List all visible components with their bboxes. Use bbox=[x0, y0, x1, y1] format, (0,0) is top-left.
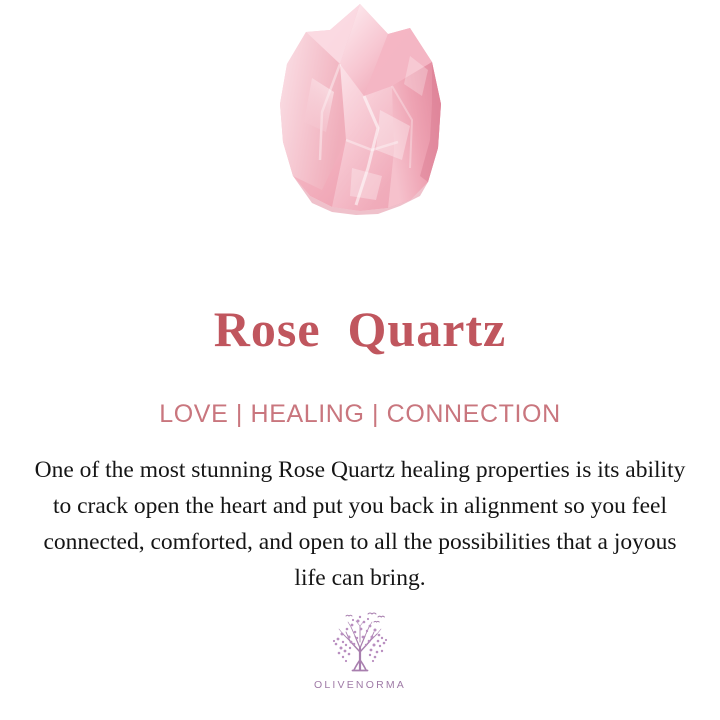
description-paragraph: One of the most stunning Rose Quartz hea… bbox=[30, 452, 690, 596]
brand-logo: OLIVENORMA bbox=[0, 608, 720, 691]
rose-quartz-crystal-image bbox=[260, 0, 460, 230]
brand-wordmark: OLIVENORMA bbox=[314, 679, 406, 691]
olivenorma-tree-logo bbox=[324, 608, 396, 676]
product-info-card: Rose Quartz LOVE | HEALING | CONNECTION … bbox=[0, 0, 720, 720]
hero-image-container bbox=[0, 0, 720, 280]
keywords-subtitle: LOVE | HEALING | CONNECTION bbox=[0, 399, 720, 429]
page-title: Rose Quartz bbox=[0, 300, 720, 358]
